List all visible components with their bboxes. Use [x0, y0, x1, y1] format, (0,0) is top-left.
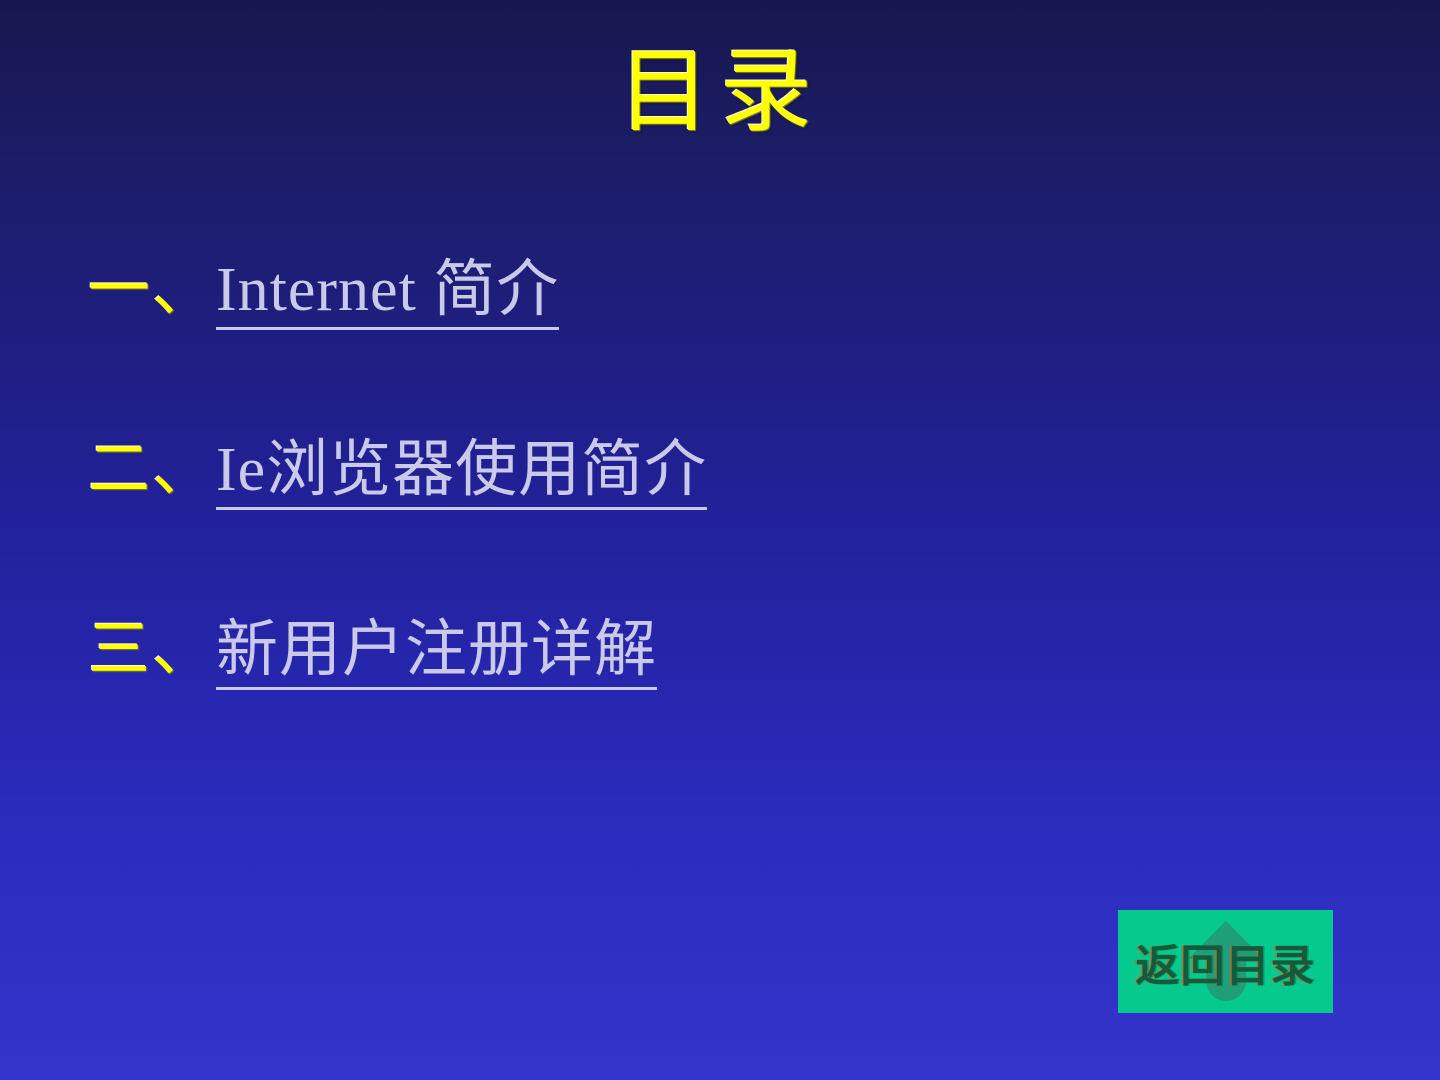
page-title: 目录	[618, 44, 822, 141]
presentation-slide: 目录 一、 Internet 简介 二、 Ie浏览器使用简介 三、 新用户注册详…	[0, 0, 1440, 1080]
list-item-number: 一、	[88, 258, 216, 320]
list-item[interactable]: 一、 Internet 简介	[88, 258, 1288, 438]
return-to-contents-button[interactable]: 返回目录	[1118, 910, 1333, 1013]
list-item[interactable]: 二、 Ie浏览器使用简介	[88, 438, 1288, 618]
title-container: 目录	[0, 44, 1440, 141]
list-item-number: 三、	[88, 618, 216, 680]
list-item[interactable]: 三、 新用户注册详解	[88, 618, 1288, 798]
up-arrow-icon	[1186, 919, 1266, 1005]
return-to-contents-label: 返回目录	[1118, 910, 1333, 1013]
list-item-number: 二、	[88, 438, 216, 500]
table-of-contents-list: 一、 Internet 简介 二、 Ie浏览器使用简介 三、 新用户注册详解	[88, 258, 1288, 798]
toc-link-internet-intro[interactable]: Internet 简介	[216, 259, 559, 330]
toc-link-ie-browser-intro[interactable]: Ie浏览器使用简介	[216, 439, 707, 510]
toc-link-new-user-registration[interactable]: 新用户注册详解	[216, 619, 657, 690]
